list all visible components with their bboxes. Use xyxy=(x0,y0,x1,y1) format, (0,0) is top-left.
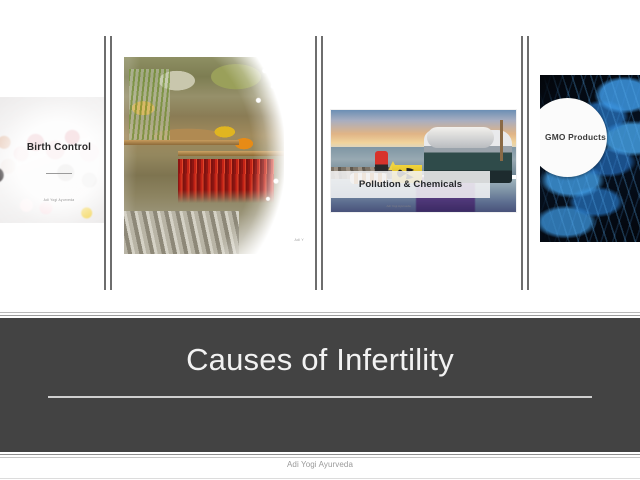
panel-gmo-products[interactable]: GMO Products xyxy=(540,75,640,242)
herbs-edge-specks xyxy=(124,57,284,254)
panel-pollution-chemicals[interactable]: Pollution & Chemicals Adi Yogi Ayurveda xyxy=(331,110,516,212)
pollution-tank-cylinder xyxy=(427,127,494,147)
title-band-rule-bottom-2 xyxy=(0,457,640,458)
page-title: Causes of Infertility xyxy=(0,342,640,378)
pollution-caption: Pollution & Chemicals xyxy=(331,171,490,198)
title-underline-rule xyxy=(48,396,592,398)
slide-canvas: Birth Control Adi Yogi Ayurveda Adi Y xyxy=(0,0,640,480)
slide-footer: Adi Yogi Ayurveda xyxy=(0,460,640,469)
herbs-photo xyxy=(124,57,284,254)
pollution-utility-pole xyxy=(500,120,503,161)
footer-rule xyxy=(0,478,640,479)
divider-2 xyxy=(315,36,324,290)
panel-herbs[interactable]: Adi Y xyxy=(122,44,308,262)
title-band xyxy=(0,318,640,452)
divider-1 xyxy=(104,36,113,290)
birth-control-divider-rule xyxy=(46,173,72,174)
title-band-rule-bottom xyxy=(0,454,640,455)
pollution-worker xyxy=(375,151,388,173)
birth-control-overlay xyxy=(0,97,105,223)
birth-control-subcaption: Adi Yogi Ayurveda xyxy=(34,198,84,202)
title-band-rule-top-2 xyxy=(0,315,640,316)
pollution-subcaption: Adi Yogi Ayurveda xyxy=(387,204,411,208)
gmo-caption: GMO Products xyxy=(540,132,606,143)
birth-control-caption: Birth Control xyxy=(22,141,96,154)
panel-birth-control[interactable]: Birth Control Adi Yogi Ayurveda xyxy=(0,97,105,223)
title-band-rule-top xyxy=(0,312,640,313)
herbs-tag: Adi Y xyxy=(294,238,304,242)
divider-3 xyxy=(521,36,530,290)
